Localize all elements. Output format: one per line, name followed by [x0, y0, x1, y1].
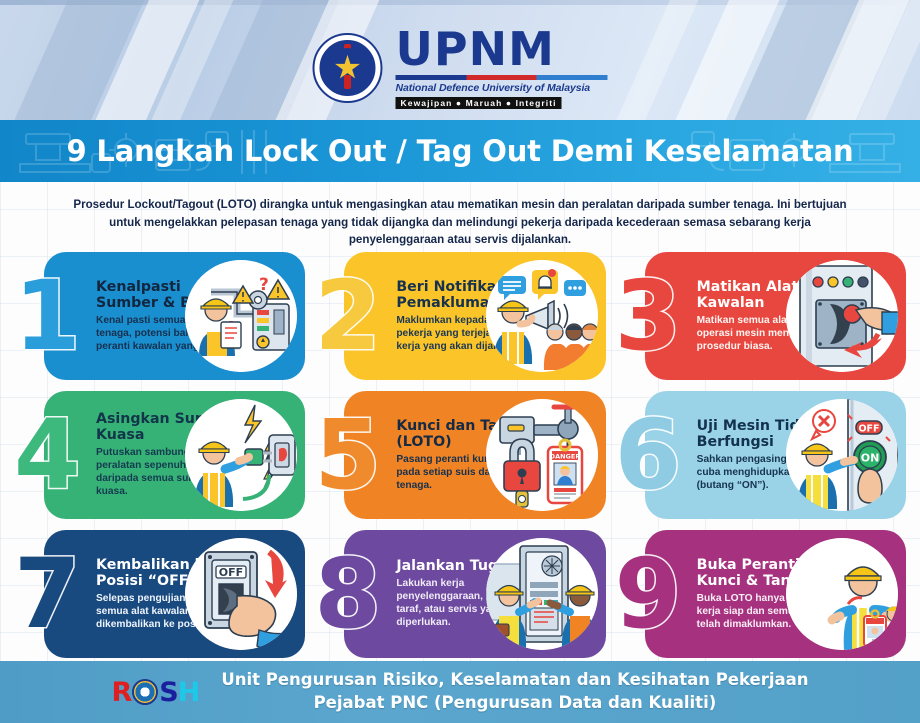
step-card-9[interactable]: 9 Buka Peranti Kunci & Tanda Buka LOTO h…: [615, 530, 906, 658]
svg-text:OFF: OFF: [858, 424, 879, 435]
step-number: 6: [615, 407, 682, 503]
svg-text:?: ?: [259, 275, 269, 295]
step-card-3[interactable]: 3 Matikan Alat Kawalan Matikan semua ala…: [615, 252, 906, 380]
upnm-brand: UPNM National Defence University of Mala…: [313, 26, 608, 110]
infographic-poster: UPNM National Defence University of Mala…: [0, 0, 920, 723]
step-card-2[interactable]: 2 Beri Notifikasi & Pemakluman Maklumkan…: [314, 252, 605, 380]
two-workers-servicing-cabinet-icon: [486, 538, 598, 650]
intro-paragraph: Prosedur Lockout/Tagout (LOTO) dirangka …: [60, 196, 860, 249]
step-number: 1: [14, 268, 81, 364]
step-number: 4: [14, 407, 81, 503]
upnm-tagline: National Defence University of Malaysia: [396, 83, 608, 94]
step-card-5[interactable]: 5 Kunci dan Tanda (LOTO) Pasang peranti …: [314, 391, 605, 519]
step-number: 2: [314, 268, 381, 364]
page-title: 9 Langkah Lock Out / Tag Out Demi Kesela…: [67, 134, 854, 168]
upnm-letters: UPNM: [396, 26, 608, 72]
upnm-crest-icon: [313, 33, 383, 103]
worker-clipboard-hazard-icon: ? ? ?: [185, 260, 297, 372]
upnm-rule: [396, 75, 608, 80]
rosh-letter-h: H: [178, 679, 200, 706]
hand-flipping-off-switch-icon: OFF: [185, 538, 297, 650]
footer-line-2: Pejabat PNC (Pengurusan Data dan Kualiti…: [221, 692, 808, 715]
worker-pressing-on-button-icon: OFF ON: [786, 399, 898, 511]
worker-megaphone-announcement-icon: [486, 260, 598, 372]
worker-unplugging-power-icon: [185, 399, 297, 511]
padlock-danger-tag-valve-icon: DANGER: [486, 399, 598, 511]
footer-band: R S H Unit Pengurusan Risiko, Keselamata…: [0, 661, 920, 723]
step-card-6[interactable]: 6 Uji Mesin Tidak Berfungsi Sahkan penga…: [615, 391, 906, 519]
hand-turning-control-switch-icon: [786, 260, 898, 372]
rosh-logo: R S H: [111, 679, 199, 706]
step-card-1[interactable]: 1 Kenalpasti Sumber & Bahaya Kenal pasti…: [14, 252, 305, 380]
svg-text:ON: ON: [861, 452, 880, 465]
footer-line-1: Unit Pengurusan Risiko, Keselamatan dan …: [221, 669, 808, 692]
step-card-4[interactable]: 4 Asingkan Sumber Kuasa Putuskan sambung…: [14, 391, 305, 519]
footer-text: Unit Pengurusan Risiko, Keselamatan dan …: [221, 669, 808, 715]
step-number: 5: [314, 407, 381, 503]
step-number: 9: [615, 546, 682, 642]
step-card-7[interactable]: 7 Kembalikan ke Posisi “OFF” Selepas pen…: [14, 530, 305, 658]
rosh-letter-r: R: [111, 679, 131, 706]
svg-text:OFF: OFF: [219, 566, 243, 579]
title-band: 9 Langkah Lock Out / Tag Out Demi Kesela…: [0, 120, 920, 182]
step-number: 7: [14, 546, 81, 642]
step-card-8[interactable]: 8 Jalankan Tugasan Lakukan kerja penyele…: [314, 530, 605, 658]
upnm-motto: Kewajipan ● Maruah ● Integriti: [396, 97, 562, 110]
rosh-letter-s: S: [159, 679, 177, 706]
upnm-wordmark: UPNM National Defence University of Mala…: [396, 26, 608, 110]
rosh-emblem-icon: [132, 679, 158, 705]
step-number: 8: [314, 546, 381, 642]
worker-removing-lock-tag-icon: [786, 538, 898, 650]
header-band: UPNM National Defence University of Mala…: [0, 0, 920, 120]
steps-grid: 1 Kenalpasti Sumber & Bahaya Kenal pasti…: [14, 252, 906, 658]
svg-text:DANGER: DANGER: [549, 453, 580, 461]
step-number: 3: [615, 268, 682, 364]
